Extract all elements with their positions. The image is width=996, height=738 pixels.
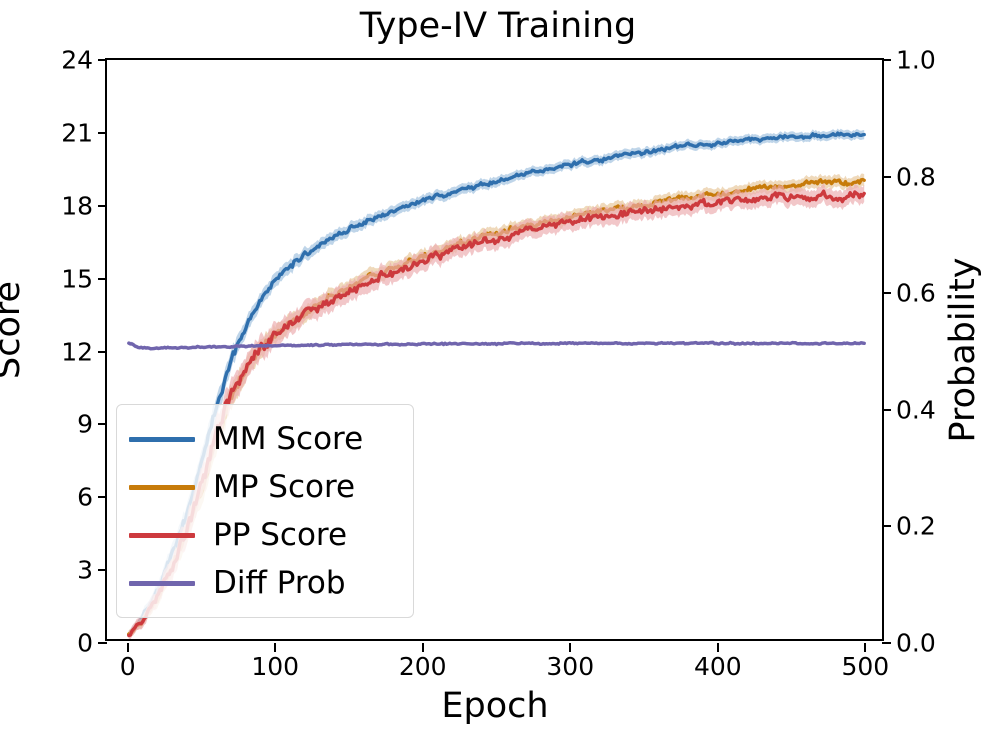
- x-tick-mark: [864, 643, 866, 652]
- x-tick-label: 0: [120, 652, 136, 681]
- x-tick-label: 500: [841, 652, 889, 681]
- x-tick-label: 200: [399, 652, 447, 681]
- legend-item[interactable]: Diff Prob: [129, 559, 399, 607]
- y-tick-label-right: 0.4: [896, 395, 936, 424]
- y-tick-mark-right: [882, 292, 891, 294]
- y-axis-title-left: Score: [0, 281, 28, 379]
- y-tick-label-left: 24: [61, 46, 93, 75]
- y-tick-label-right: 1.0: [896, 46, 936, 75]
- y-tick-label-left: 18: [61, 191, 93, 220]
- y-axis-title-right: Probability: [943, 257, 983, 442]
- y-tick-label-right: 0.0: [896, 629, 936, 658]
- x-tick-mark: [127, 643, 129, 652]
- y-tick-mark-left: [98, 351, 107, 353]
- y-tick-label-left: 15: [61, 264, 93, 293]
- y-tick-mark-left: [98, 496, 107, 498]
- y-tick-label-left: 12: [61, 337, 93, 366]
- y-tick-mark-left: [98, 642, 107, 644]
- chart-title: Type-IV Training: [0, 6, 996, 46]
- x-tick-mark: [274, 643, 276, 652]
- y-tick-label-left: 9: [77, 410, 93, 439]
- y-tick-mark-left: [98, 205, 107, 207]
- legend-label: PP Score: [213, 520, 347, 551]
- y-tick-mark-left: [98, 278, 107, 280]
- y-tick-mark-left: [98, 423, 107, 425]
- x-tick-mark: [422, 643, 424, 652]
- y-tick-label-left: 21: [61, 118, 93, 147]
- x-tick-mark: [717, 643, 719, 652]
- legend-item[interactable]: MM Score: [129, 415, 399, 463]
- legend-item[interactable]: MP Score: [129, 463, 399, 511]
- y-tick-label-left: 3: [77, 556, 93, 585]
- legend-item[interactable]: PP Score: [129, 511, 399, 559]
- x-tick-label: 400: [694, 652, 742, 681]
- legend-color-swatch: [129, 485, 195, 490]
- legend-color-swatch: [129, 437, 195, 442]
- y-tick-mark-right: [882, 525, 891, 527]
- y-tick-label-right: 0.2: [896, 512, 936, 541]
- y-tick-label-right: 0.6: [896, 279, 936, 308]
- y-tick-label-left: 0: [77, 629, 93, 658]
- y-tick-mark-left: [98, 569, 107, 571]
- y-tick-mark-left: [98, 59, 107, 61]
- x-axis-title: Epoch: [441, 686, 548, 726]
- y-tick-mark-right: [882, 642, 891, 644]
- legend-label: MP Score: [213, 472, 355, 503]
- chart-figure: Type-IV Training 036912151821240.00.20.4…: [0, 0, 996, 738]
- legend-label: MM Score: [213, 424, 363, 455]
- legend-color-swatch: [129, 581, 195, 586]
- y-tick-mark-left: [98, 132, 107, 134]
- y-tick-label-right: 0.8: [896, 162, 936, 191]
- y-tick-mark-right: [882, 409, 891, 411]
- x-tick-mark: [569, 643, 571, 652]
- y-tick-mark-right: [882, 59, 891, 61]
- x-tick-label: 100: [251, 652, 299, 681]
- y-tick-mark-right: [882, 176, 891, 178]
- legend: MM ScoreMP ScorePP ScoreDiff Prob: [116, 404, 414, 618]
- y-tick-label-left: 6: [77, 483, 93, 512]
- legend-color-swatch: [129, 533, 195, 538]
- x-tick-label: 300: [546, 652, 594, 681]
- legend-label: Diff Prob: [213, 568, 346, 599]
